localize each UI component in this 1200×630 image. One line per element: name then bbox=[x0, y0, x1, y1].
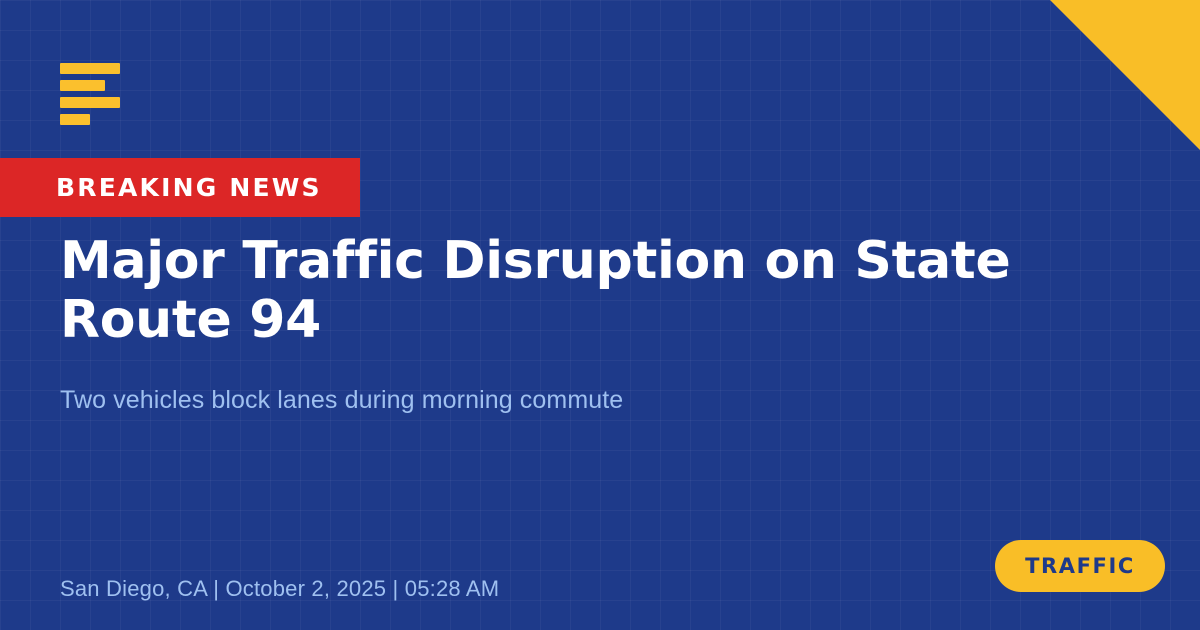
logo-bar-2 bbox=[60, 80, 105, 91]
breaking-news-card: BREAKING NEWS Major Traffic Disruption o… bbox=[0, 0, 1200, 630]
logo-bar-4 bbox=[60, 114, 90, 125]
article-meta-line: San Diego, CA | October 2, 2025 | 05:28 … bbox=[60, 576, 499, 602]
brand-logo bbox=[60, 63, 120, 125]
logo-bar-1 bbox=[60, 63, 120, 74]
breaking-news-badge: BREAKING NEWS bbox=[0, 158, 360, 217]
status-badge: TRAFFIC bbox=[995, 540, 1165, 592]
breaking-news-label: BREAKING NEWS bbox=[56, 175, 322, 200]
page-title: Major Traffic Disruption on State Route … bbox=[60, 232, 1185, 350]
category-label: TRAFFIC bbox=[1025, 556, 1135, 577]
article-subtitle: Two vehicles block lanes during morning … bbox=[60, 384, 960, 417]
corner-wedge-decoration bbox=[1050, 0, 1200, 150]
logo-bar-3 bbox=[60, 97, 120, 108]
